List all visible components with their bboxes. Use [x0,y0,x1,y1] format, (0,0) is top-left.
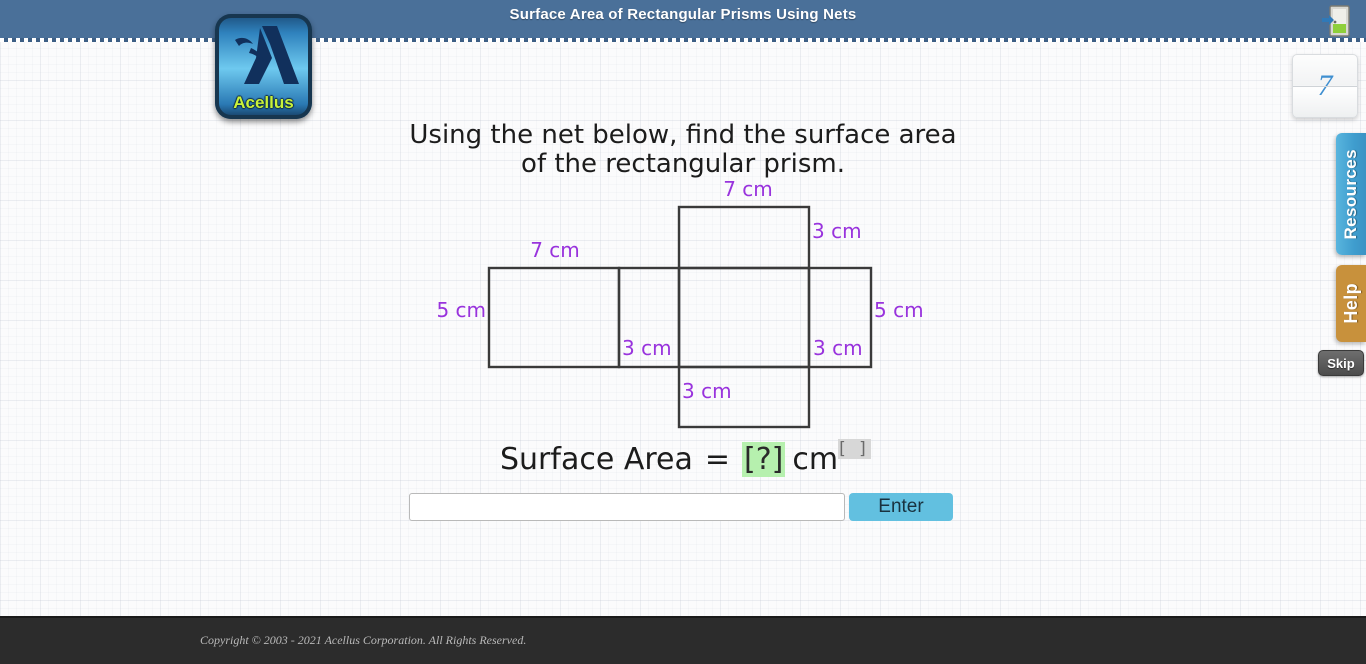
right-face [809,268,871,367]
answer-unit: cm [792,442,838,477]
label-bottom-3cm: 3 cm [682,379,732,403]
label-top-7cm: 7 cm [723,177,773,201]
answer-blank-placeholder: [?] [742,442,785,477]
resources-tab[interactable]: Resources [1336,133,1366,255]
label-mid-3cm: 3 cm [622,336,672,360]
answer-input[interactable] [409,493,845,521]
question-line-1: Using the net below, find the surface ar… [383,122,983,148]
label-far-left-5cm: 5 cm [436,298,486,322]
question-line-2: of the rectangular prism. [383,151,983,177]
help-tab-label: Help [1341,283,1362,324]
middle-left-face [619,268,679,367]
left-face [489,268,619,367]
help-tab[interactable]: Help [1336,265,1366,342]
problem-counter-value: 7 [1293,55,1357,117]
footer-bar: Copyright © 2003 - 2021 Acellus Corporat… [0,616,1366,664]
exit-door-icon[interactable] [1322,4,1352,38]
enter-button[interactable]: Enter [849,493,953,521]
bottom-flap [679,367,809,427]
skip-button[interactable]: Skip [1318,350,1364,376]
label-far-right-5cm: 5 cm [874,298,924,322]
header-bar: Surface Area of Rectangular Prisms Using… [0,0,1366,42]
acellus-a-glyph [215,18,312,92]
label-right-3cm: 3 cm [812,219,862,243]
page-title: Surface Area of Rectangular Prisms Using… [0,0,1366,30]
equals-sign: = [705,442,730,477]
answer-exponent-blank: [ ] [838,439,871,459]
answer-label: Surface Area [500,442,693,477]
net-diagram: 7 cm7 cm3 cm5 cm5 cm3 cm3 cm3 cm [0,0,1366,664]
question-prompt: Using the net below, find the surface ar… [383,122,983,180]
acellus-logo-text: Acellus [215,93,312,113]
problem-counter: 7 [1292,54,1358,118]
top-flap [679,207,809,268]
copyright-text: Copyright © 2003 - 2021 Acellus Corporat… [200,633,526,648]
resources-tab-label: Resources [1341,149,1361,240]
front-face [679,268,809,367]
acellus-logo: Acellus [215,14,312,119]
answer-expression: Surface Area = [?] cm [ ] [500,437,900,481]
label-left-7cm: 7 cm [530,238,580,262]
label-right-lower-3cm: 3 cm [813,336,863,360]
header-dotted-edge [0,38,1366,42]
lesson-page: Surface Area of Rectangular Prisms Using… [0,0,1366,664]
